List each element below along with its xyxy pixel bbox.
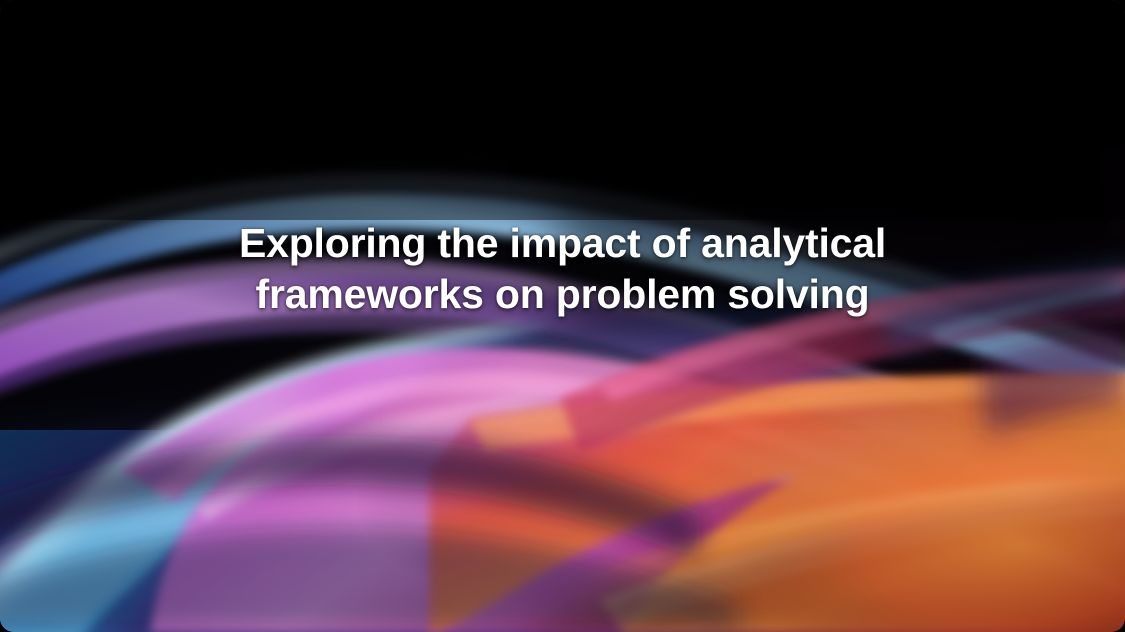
slide-canvas: Exploring the impact of analytical frame… [0, 0, 1125, 632]
abstract-wave-background [0, 0, 1125, 632]
